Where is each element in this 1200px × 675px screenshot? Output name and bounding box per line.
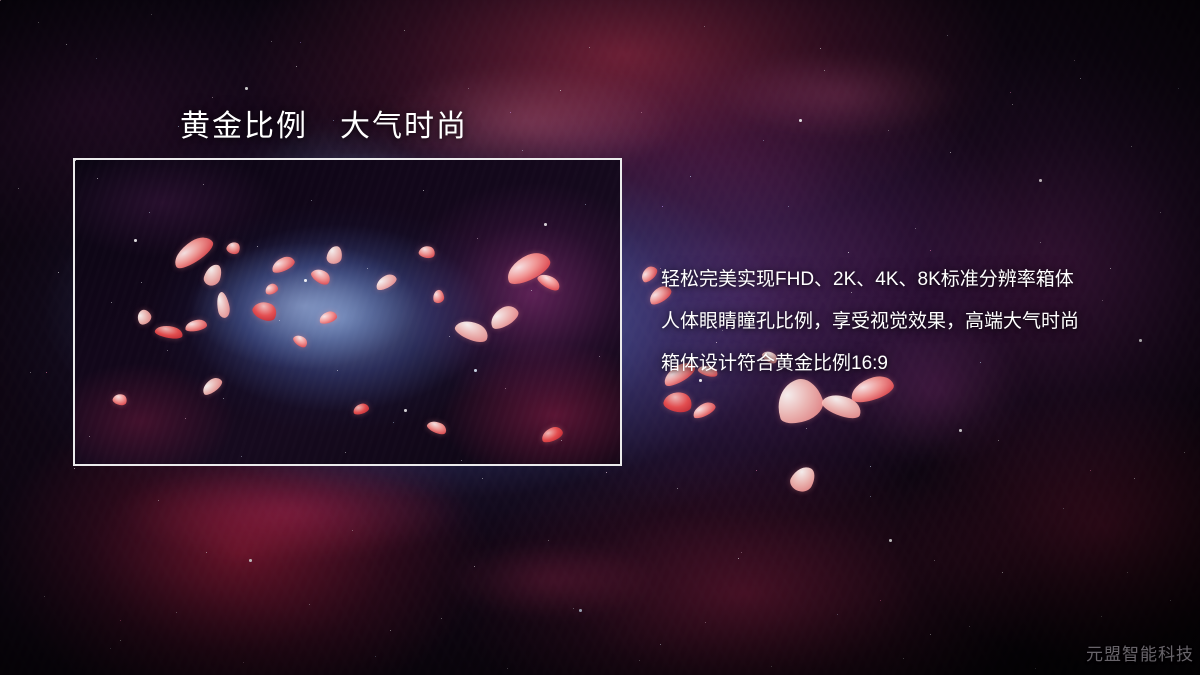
body-line-2: 人体眼睛瞳孔比例，享受视觉效果，高端大气时尚 [661, 301, 1181, 343]
watermark: 元盟智能科技 [1086, 640, 1194, 665]
panel-starfield [75, 160, 76, 161]
panel-nebula-wisps [75, 160, 620, 464]
presentation-slide: 黄金比例 大气时尚 轻松完美实现FHD、2K、4K、8K标准分辨率箱体 人体眼睛… [0, 0, 1200, 675]
body-line-1: 轻松完美实现FHD、2K、4K、8K标准分辨率箱体 [661, 259, 1181, 301]
body-line-3: 箱体设计符合黄金比例16:9 [661, 343, 1181, 385]
framed-image-panel[interactable] [73, 158, 622, 466]
framed-image-content [75, 160, 620, 464]
body-copy: 轻松完美实现FHD、2K、4K、8K标准分辨率箱体 人体眼睛瞳孔比例，享受视觉效… [661, 259, 1181, 385]
page-title: 黄金比例 大气时尚 [180, 101, 468, 145]
